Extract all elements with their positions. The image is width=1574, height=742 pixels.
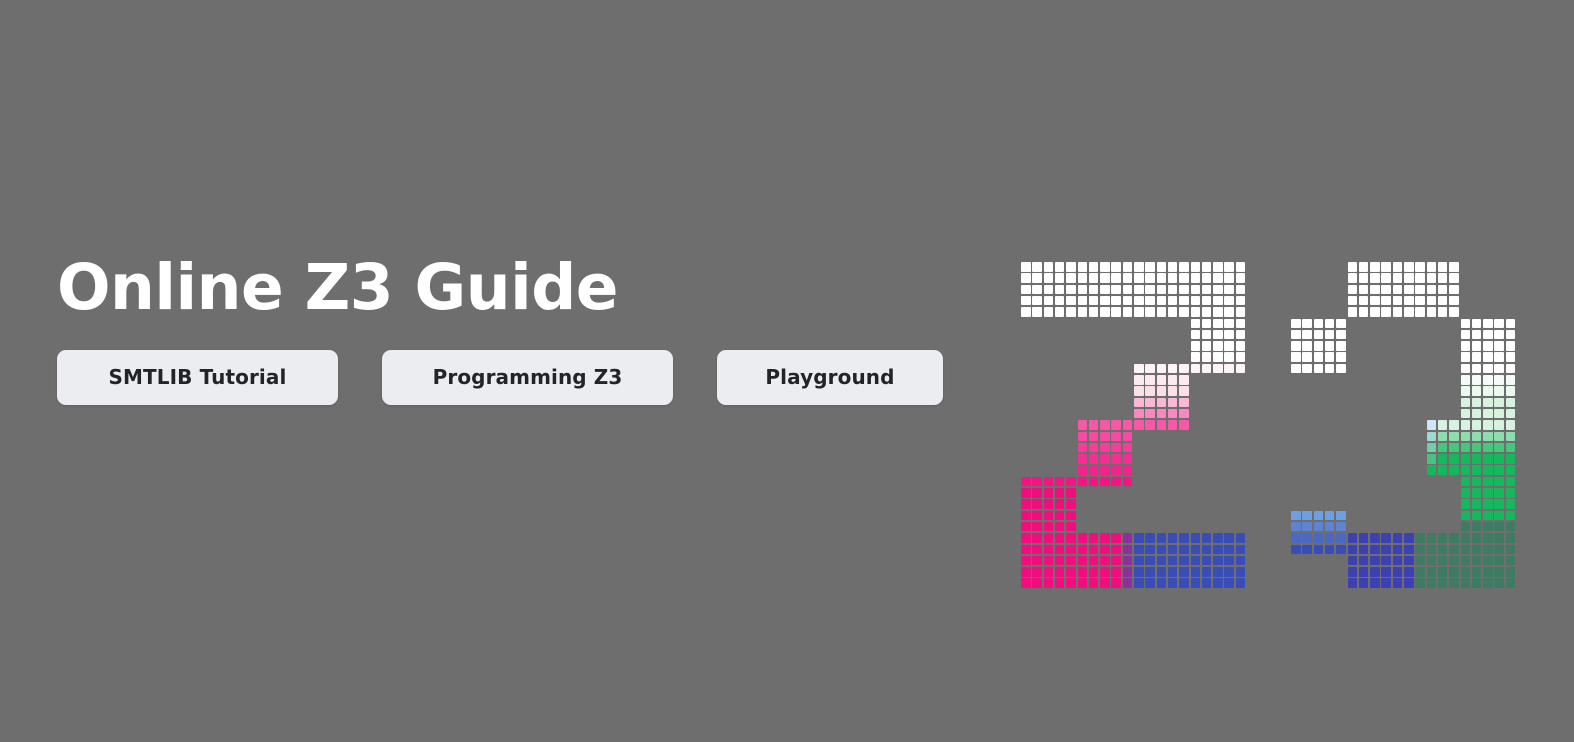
logo-pixel <box>1100 432 1110 442</box>
logo-pixel <box>1494 409 1504 419</box>
logo-pixel <box>1381 465 1391 475</box>
logo-pixel <box>1325 511 1335 521</box>
logo-pixel <box>1191 352 1201 362</box>
logo-pixel <box>1336 522 1346 532</box>
logo-pixel <box>1359 296 1369 306</box>
logo-pixel <box>1224 352 1234 362</box>
logo-pixel <box>1506 511 1516 521</box>
logo-pixel <box>1393 443 1403 453</box>
logo-pixel <box>1302 533 1312 543</box>
logo-pixel <box>1191 330 1201 340</box>
logo-pixel <box>1381 432 1391 442</box>
logo-pixel <box>1191 262 1201 272</box>
logo-pixel <box>1111 443 1121 453</box>
logo-pixel <box>1348 545 1358 555</box>
logo-pixel <box>1461 567 1471 577</box>
logo-pixel <box>1032 499 1042 509</box>
logo-pixel <box>1078 443 1088 453</box>
logo-pixel <box>1472 511 1482 521</box>
logo-pixel <box>1325 545 1335 555</box>
logo-pixel <box>1089 443 1099 453</box>
logo-pixel <box>1348 420 1358 430</box>
logo-pixel <box>1404 285 1414 295</box>
logo-pixel <box>1370 567 1380 577</box>
logo-pixel <box>1213 307 1223 317</box>
logo-pixel <box>1483 499 1493 509</box>
logo-pixel <box>1134 556 1144 566</box>
logo-pixel <box>1302 364 1312 374</box>
logo-pixel <box>1472 341 1482 351</box>
logo-pixel <box>1111 420 1121 430</box>
logo-pixel <box>1449 262 1459 272</box>
logo-pixel <box>1494 364 1504 374</box>
logo-pixel <box>1078 533 1088 543</box>
logo-pixel <box>1393 432 1403 442</box>
logo-pixel <box>1506 567 1516 577</box>
logo-pixel <box>1066 488 1076 498</box>
logo-pixel <box>1302 545 1312 555</box>
logo-pixel <box>1100 578 1110 588</box>
logo-pixel <box>1134 364 1144 374</box>
logo-pixel <box>1472 578 1482 588</box>
logo-pixel <box>1111 477 1121 487</box>
logo-pixel <box>1157 364 1167 374</box>
logo-pixel <box>1066 285 1076 295</box>
logo-pixel <box>1044 296 1054 306</box>
logo-pixel <box>1302 330 1312 340</box>
logo-pixel <box>1438 545 1448 555</box>
logo-pixel <box>1461 533 1471 543</box>
logo-pixel <box>1472 465 1482 475</box>
logo-pixel <box>1336 330 1346 340</box>
logo-pixel <box>1191 545 1201 555</box>
logo-pixel <box>1066 578 1076 588</box>
logo-pixel <box>1370 454 1380 464</box>
logo-pixel <box>1236 533 1246 543</box>
logo-pixel <box>1213 262 1223 272</box>
logo-pixel <box>1032 511 1042 521</box>
logo-pixel <box>1494 330 1504 340</box>
logo-pixel <box>1168 262 1178 272</box>
logo-pixel <box>1314 522 1324 532</box>
logo-pixel <box>1483 319 1493 329</box>
logo-pixel <box>1483 420 1493 430</box>
logo-pixel <box>1291 319 1301 329</box>
logo-pixel <box>1123 443 1133 453</box>
logo-pixel <box>1157 567 1167 577</box>
logo-pixel <box>1066 477 1076 487</box>
logo-pixel <box>1236 352 1246 362</box>
logo-pixel <box>1236 330 1246 340</box>
logo-pixel <box>1461 398 1471 408</box>
logo-pixel <box>1494 386 1504 396</box>
logo-pixel <box>1472 567 1482 577</box>
logo-pixel <box>1506 364 1516 374</box>
logo-pixel <box>1415 545 1425 555</box>
logo-pixel <box>1078 477 1088 487</box>
logo-pixel <box>1157 285 1167 295</box>
logo-pixel <box>1404 567 1414 577</box>
logo-pixel <box>1032 522 1042 532</box>
logo-pixel <box>1393 578 1403 588</box>
logo-pixel <box>1393 273 1403 283</box>
logo-pixel <box>1224 262 1234 272</box>
logo-pixel <box>1066 296 1076 306</box>
logo-pixel <box>1415 443 1425 453</box>
logo-pixel <box>1134 273 1144 283</box>
logo-pixel <box>1078 578 1088 588</box>
logo-pixel <box>1236 556 1246 566</box>
logo-pixel <box>1236 364 1246 374</box>
logo-pixel <box>1179 567 1189 577</box>
logo-pixel <box>1472 477 1482 487</box>
logo-pixel <box>1213 319 1223 329</box>
logo-pixel <box>1179 420 1189 430</box>
logo-pixel <box>1494 398 1504 408</box>
logo-pixel <box>1202 307 1212 317</box>
logo-pixel <box>1123 307 1133 317</box>
logo-pixel <box>1483 341 1493 351</box>
logo-pixel <box>1066 307 1076 317</box>
logo-pixel <box>1202 296 1212 306</box>
cta-button-row: SMTLIB Tutorial Programming Z3 Playgroun… <box>57 350 957 405</box>
logo-pixel <box>1066 545 1076 555</box>
logo-pixel <box>1483 477 1493 487</box>
logo-pixel <box>1359 262 1369 272</box>
logo-pixel <box>1078 420 1088 430</box>
logo-pixel <box>1202 533 1212 543</box>
logo-pixel <box>1123 432 1133 442</box>
logo-pixel <box>1291 545 1301 555</box>
logo-pixel <box>1359 567 1369 577</box>
logo-pixel <box>1461 420 1471 430</box>
logo-pixel <box>1427 296 1437 306</box>
logo-pixel <box>1089 262 1099 272</box>
logo-pixel <box>1370 432 1380 442</box>
logo-pixel <box>1494 533 1504 543</box>
logo-pixel <box>1100 443 1110 453</box>
logo-pixel <box>1179 262 1189 272</box>
logo-pixel <box>1291 341 1301 351</box>
logo-pixel <box>1494 432 1504 442</box>
logo-pixel <box>1314 330 1324 340</box>
logo-pixel <box>1236 578 1246 588</box>
logo-pixel <box>1415 307 1425 317</box>
logo-pixel <box>1089 307 1099 317</box>
logo-pixel <box>1032 477 1042 487</box>
programming-z3-button[interactable]: Programming Z3 <box>382 350 673 405</box>
logo-pixel <box>1157 420 1167 430</box>
logo-pixel <box>1179 545 1189 555</box>
logo-pixel <box>1438 262 1448 272</box>
logo-pixel <box>1393 556 1403 566</box>
logo-pixel <box>1506 556 1516 566</box>
logo-pixel <box>1021 307 1031 317</box>
logo-pixel <box>1393 533 1403 543</box>
logo-pixel <box>1506 522 1516 532</box>
logo-pixel <box>1191 341 1201 351</box>
logo-pixel <box>1461 432 1471 442</box>
logo-pixel <box>1123 556 1133 566</box>
logo-pixel <box>1381 273 1391 283</box>
logo-pixel <box>1032 545 1042 555</box>
logo-pixel <box>1506 409 1516 419</box>
logo-pixel <box>1032 262 1042 272</box>
logo-pixel <box>1021 533 1031 543</box>
logo-pixel <box>1134 398 1144 408</box>
logo-pixel <box>1202 567 1212 577</box>
logo-pixel <box>1021 567 1031 577</box>
logo-pixel <box>1078 465 1088 475</box>
logo-pixel <box>1427 465 1437 475</box>
logo-pixel <box>1168 296 1178 306</box>
logo-pixel <box>1461 477 1471 487</box>
logo-pixel <box>1191 556 1201 566</box>
logo-pixel <box>1506 499 1516 509</box>
logo-pixel <box>1111 556 1121 566</box>
logo-pixel <box>1236 545 1246 555</box>
logo-pixel <box>1111 454 1121 464</box>
logo-pixel <box>1336 511 1346 521</box>
logo-pixel <box>1032 488 1042 498</box>
playground-button[interactable]: Playground <box>717 350 943 405</box>
logo-pixel <box>1494 319 1504 329</box>
logo-glyph-3 <box>1291 262 1517 590</box>
logo-pixel <box>1089 273 1099 283</box>
logo-pixel <box>1213 296 1223 306</box>
logo-pixel <box>1427 545 1437 555</box>
logo-pixel <box>1089 465 1099 475</box>
logo-pixel <box>1472 420 1482 430</box>
logo-pixel <box>1461 375 1471 385</box>
logo-pixel <box>1506 352 1516 362</box>
logo-pixel <box>1472 499 1482 509</box>
logo-pixel <box>1123 567 1133 577</box>
logo-pixel <box>1224 285 1234 295</box>
logo-pixel <box>1123 477 1133 487</box>
logo-pixel <box>1483 533 1493 543</box>
logo-pixel <box>1393 420 1403 430</box>
logo-pixel <box>1404 556 1414 566</box>
logo-pixel <box>1302 319 1312 329</box>
logo-pixel <box>1032 578 1042 588</box>
logo-pixel <box>1314 511 1324 521</box>
logo-pixel <box>1483 398 1493 408</box>
logo-pixel <box>1202 556 1212 566</box>
logo-pixel <box>1157 375 1167 385</box>
logo-pixel <box>1302 522 1312 532</box>
logo-pixel <box>1494 522 1504 532</box>
logo-pixel <box>1202 341 1212 351</box>
logo-pixel <box>1145 364 1155 374</box>
logo-pixel <box>1370 556 1380 566</box>
logo-pixel <box>1506 454 1516 464</box>
logo-pixel <box>1157 296 1167 306</box>
logo-pixel <box>1100 420 1110 430</box>
logo-pixel <box>1325 364 1335 374</box>
logo-pixel <box>1202 319 1212 329</box>
logo-pixel <box>1370 545 1380 555</box>
logo-pixel <box>1494 545 1504 555</box>
logo-pixel <box>1078 307 1088 317</box>
logo-pixel <box>1055 567 1065 577</box>
logo-pixel <box>1449 432 1459 442</box>
logo-pixel <box>1213 556 1223 566</box>
logo-pixel <box>1427 307 1437 317</box>
logo-pixel <box>1179 533 1189 543</box>
logo-pixel <box>1134 545 1144 555</box>
logo-pixel <box>1179 386 1189 396</box>
logo-pixel <box>1314 341 1324 351</box>
logo-pixel <box>1157 386 1167 396</box>
logo-pixel <box>1168 307 1178 317</box>
logo-pixel <box>1314 352 1324 362</box>
logo-pixel <box>1438 533 1448 543</box>
logo-pixel <box>1415 420 1425 430</box>
logo-pixel <box>1483 578 1493 588</box>
logo-pixel <box>1404 296 1414 306</box>
logo-pixel <box>1506 319 1516 329</box>
logo-pixel <box>1325 533 1335 543</box>
logo-pixel <box>1055 556 1065 566</box>
logo-pixel <box>1191 307 1201 317</box>
logo-pixel <box>1224 307 1234 317</box>
logo-pixel <box>1359 454 1369 464</box>
logo-pixel <box>1438 578 1448 588</box>
logo-pixel <box>1179 556 1189 566</box>
logo-pixel <box>1472 319 1482 329</box>
logo-pixel <box>1202 578 1212 588</box>
logo-pixel <box>1021 522 1031 532</box>
smtlib-tutorial-button[interactable]: SMTLIB Tutorial <box>57 350 338 405</box>
logo-pixel <box>1506 375 1516 385</box>
logo-pixel <box>1461 578 1471 588</box>
logo-pixel <box>1494 352 1504 362</box>
logo-pixel <box>1044 511 1054 521</box>
logo-pixel <box>1123 533 1133 543</box>
logo-pixel <box>1224 319 1234 329</box>
logo-pixel <box>1202 330 1212 340</box>
logo-pixel <box>1336 533 1346 543</box>
logo-pixel <box>1427 262 1437 272</box>
logo-pixel <box>1021 556 1031 566</box>
logo-pixel <box>1055 273 1065 283</box>
logo-pixel <box>1472 364 1482 374</box>
logo-pixel <box>1179 273 1189 283</box>
logo-pixel <box>1089 285 1099 295</box>
logo-pixel <box>1393 262 1403 272</box>
logo-pixel <box>1461 352 1471 362</box>
logo-pixel <box>1461 364 1471 374</box>
logo-pixel <box>1506 432 1516 442</box>
logo-pixel <box>1483 522 1493 532</box>
logo-pixel <box>1111 432 1121 442</box>
logo-pixel <box>1078 273 1088 283</box>
logo-pixel <box>1055 578 1065 588</box>
logo-pixel <box>1483 386 1493 396</box>
logo-pixel <box>1314 545 1324 555</box>
logo-pixel <box>1415 578 1425 588</box>
logo-pixel <box>1021 488 1031 498</box>
logo-pixel <box>1032 296 1042 306</box>
logo-pixel <box>1111 307 1121 317</box>
logo-pixel <box>1348 443 1358 453</box>
logo-pixel <box>1348 296 1358 306</box>
logo-pixel <box>1483 488 1493 498</box>
logo-pixel <box>1168 273 1178 283</box>
logo-pixel <box>1506 533 1516 543</box>
logo-pixel <box>1066 511 1076 521</box>
logo-pixel <box>1134 386 1144 396</box>
logo-pixel <box>1506 578 1516 588</box>
logo-pixel <box>1381 545 1391 555</box>
logo-pixel <box>1336 341 1346 351</box>
logo-pixel <box>1145 307 1155 317</box>
logo-pixel <box>1472 409 1482 419</box>
logo-pixel <box>1393 307 1403 317</box>
logo-pixel <box>1449 533 1459 543</box>
logo-pixel <box>1078 567 1088 577</box>
logo-pixel <box>1168 545 1178 555</box>
logo-pixel <box>1427 273 1437 283</box>
logo-pixel <box>1179 285 1189 295</box>
logo-pixel <box>1179 578 1189 588</box>
logo-pixel <box>1145 567 1155 577</box>
logo-pixel <box>1359 545 1369 555</box>
logo-pixel <box>1179 364 1189 374</box>
logo-pixel <box>1021 296 1031 306</box>
logo-pixel <box>1370 465 1380 475</box>
logo-pixel <box>1213 533 1223 543</box>
logo-pixel <box>1336 364 1346 374</box>
logo-pixel <box>1066 533 1076 543</box>
logo-pixel <box>1472 522 1482 532</box>
logo-pixel <box>1145 545 1155 555</box>
logo-pixel <box>1359 533 1369 543</box>
logo-pixel <box>1494 341 1504 351</box>
logo-pixel <box>1359 578 1369 588</box>
logo-pixel <box>1145 398 1155 408</box>
logo-pixel <box>1123 465 1133 475</box>
logo-pixel <box>1191 273 1201 283</box>
logo-pixel <box>1359 465 1369 475</box>
logo-pixel <box>1236 319 1246 329</box>
logo-pixel <box>1236 285 1246 295</box>
logo-pixel <box>1100 545 1110 555</box>
logo-pixel <box>1427 454 1437 464</box>
logo-pixel <box>1224 273 1234 283</box>
logo-pixel <box>1483 375 1493 385</box>
logo-pixel <box>1461 341 1471 351</box>
logo-pixel <box>1370 285 1380 295</box>
logo-pixel <box>1404 533 1414 543</box>
logo-pixel <box>1236 307 1246 317</box>
logo-pixel <box>1404 432 1414 442</box>
logo-pixel <box>1021 273 1031 283</box>
logo-pixel <box>1123 420 1133 430</box>
logo-pixel <box>1427 567 1437 577</box>
logo-pixel <box>1134 409 1144 419</box>
logo-pixel <box>1461 319 1471 329</box>
logo-pixel <box>1168 556 1178 566</box>
logo-pixel <box>1224 533 1234 543</box>
logo-pixel <box>1032 273 1042 283</box>
logo-pixel <box>1494 465 1504 475</box>
logo-pixel <box>1404 443 1414 453</box>
logo-pixel <box>1123 545 1133 555</box>
logo-pixel <box>1438 420 1448 430</box>
logo-pixel <box>1472 375 1482 385</box>
